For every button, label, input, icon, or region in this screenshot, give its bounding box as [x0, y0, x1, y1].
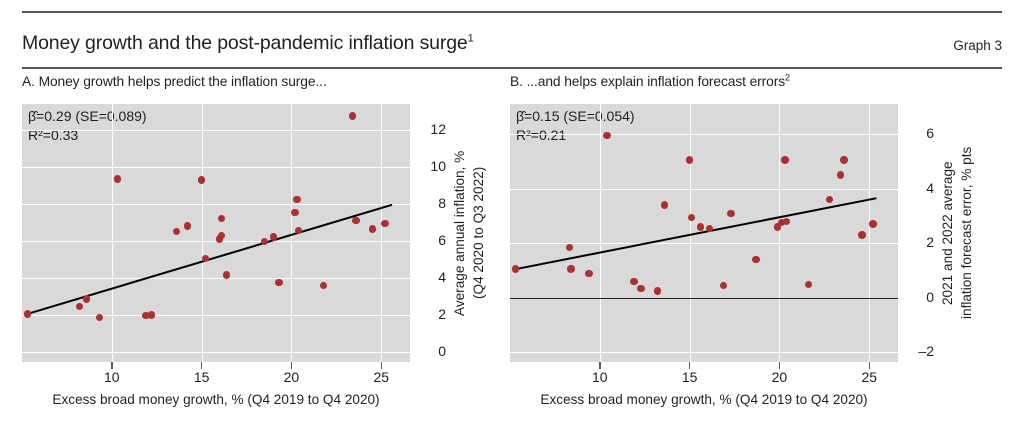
y-axis-tick-label: 4 — [900, 180, 934, 196]
panel-b-xlabel: Excess broad money growth, % (Q4 2019 to… — [510, 392, 898, 407]
panel-a: A. Money growth helps predict the inflat… — [22, 74, 492, 434]
y-axis-tick-label: 0 — [412, 343, 446, 359]
x-axis-tick-mark — [779, 362, 780, 369]
x-axis-tick-mark — [201, 362, 202, 369]
y-axis-tick-label: 0 — [900, 289, 934, 305]
y-axis-tick-label: 6 — [412, 232, 446, 248]
panel-a-ylabel-line1: Average annual inflation, % — [452, 104, 467, 362]
x-axis-tick-label: 20 — [284, 369, 300, 385]
x-axis-tick-label: 25 — [861, 369, 877, 385]
scatter-point — [184, 222, 191, 229]
y-axis-tick-label: 6 — [900, 125, 934, 141]
panel-b-ylabel-line1: 2021 and 2022 average — [940, 104, 955, 362]
panel-b-title: B. ...and helps explain inflation foreca… — [510, 74, 790, 89]
scatter-point — [381, 220, 388, 227]
scatter-point — [567, 265, 574, 272]
scatter-point — [291, 209, 298, 216]
scatter-point — [270, 233, 277, 240]
x-axis-tick-label: 10 — [592, 369, 608, 385]
y-axis-tick-label: –2 — [900, 343, 934, 359]
panel-b: B. ...and helps explain inflation foreca… — [510, 74, 1002, 434]
panel-a-plot-area: β̂=0.29 (SE=0.089) R²=0.33 — [22, 104, 410, 362]
header-rule — [22, 67, 1002, 69]
scatter-point — [148, 311, 155, 318]
x-axis-tick-mark — [111, 362, 112, 369]
x-axis-tick-label: 15 — [682, 369, 698, 385]
scatter-point — [637, 285, 644, 292]
x-axis-tick-mark — [689, 362, 690, 369]
scatter-point — [630, 278, 637, 285]
scatter-point — [198, 176, 205, 183]
panel-b-title-footnote: 2 — [785, 72, 790, 82]
scatter-point — [202, 255, 209, 262]
x-axis-tick-mark — [599, 362, 600, 369]
panel-a-title: A. Money growth helps predict the inflat… — [22, 74, 327, 89]
scatter-point — [752, 256, 759, 263]
scatter-point — [275, 279, 282, 286]
regression-fit-line — [510, 104, 898, 362]
panel-a-ylabel-line2: (Q4 2020 to Q3 2022) — [471, 104, 486, 362]
x-axis-tick-mark — [869, 362, 870, 369]
scatter-point — [781, 156, 788, 163]
x-axis-tick-mark — [291, 362, 292, 369]
panels-container: A. Money growth helps predict the inflat… — [0, 74, 1024, 434]
page-title-footnote: 1 — [468, 32, 474, 44]
scatter-point — [654, 287, 661, 294]
regression-fit-line — [22, 104, 410, 362]
y-axis-tick-label: 12 — [412, 121, 446, 137]
panel-a-xlabel: Excess broad money growth, % (Q4 2019 to… — [22, 392, 410, 407]
y-axis-tick-label: 2 — [412, 306, 446, 322]
panel-a-title-text: A. Money growth helps predict the inflat… — [22, 74, 327, 89]
page-title-text: Money growth and the post-pandemic infla… — [22, 32, 468, 54]
scatter-point — [114, 175, 121, 182]
top-rule — [22, 11, 1002, 13]
scatter-point — [24, 310, 31, 317]
scatter-point — [349, 112, 356, 119]
header: Money growth and the post-pandemic infla… — [22, 25, 1002, 61]
scatter-point — [218, 232, 225, 239]
scatter-point — [706, 225, 713, 232]
panel-b-plot-area: β̂=0.15 (SE=0.054) R²=0.21 — [510, 104, 898, 362]
scatter-point — [566, 244, 573, 251]
x-axis-tick-mark — [381, 362, 382, 369]
graph-page: Money growth and the post-pandemic infla… — [0, 0, 1024, 441]
panel-b-title-text: B. ...and helps explain inflation foreca… — [510, 74, 785, 89]
page-title: Money growth and the post-pandemic infla… — [22, 32, 474, 55]
y-axis-tick-label: 4 — [412, 269, 446, 285]
scatter-point — [603, 132, 610, 139]
scatter-point — [369, 225, 376, 232]
scatter-point — [869, 220, 876, 227]
scatter-point — [293, 196, 300, 203]
scatter-point — [805, 281, 812, 288]
scatter-point — [688, 214, 695, 221]
y-axis-tick-label: 10 — [412, 158, 446, 174]
graph-label: Graph 3 — [953, 34, 1002, 53]
scatter-point — [840, 156, 847, 163]
x-axis-tick-label: 20 — [772, 369, 788, 385]
panel-b-ylabel-line2: inflation forecast error, % pts — [959, 104, 974, 362]
scatter-point — [585, 270, 592, 277]
scatter-point — [837, 171, 844, 178]
scatter-point — [512, 265, 519, 272]
scatter-point — [686, 156, 693, 163]
x-axis-tick-label: 10 — [104, 369, 120, 385]
scatter-point — [661, 201, 668, 208]
x-axis-tick-label: 15 — [194, 369, 210, 385]
scatter-point — [697, 223, 704, 230]
scatter-point — [727, 210, 734, 217]
y-axis-tick-label: 8 — [412, 195, 446, 211]
scatter-point — [352, 217, 359, 224]
x-axis-tick-label: 25 — [373, 369, 389, 385]
scatter-point — [858, 231, 865, 238]
y-axis-tick-label: 2 — [900, 234, 934, 250]
